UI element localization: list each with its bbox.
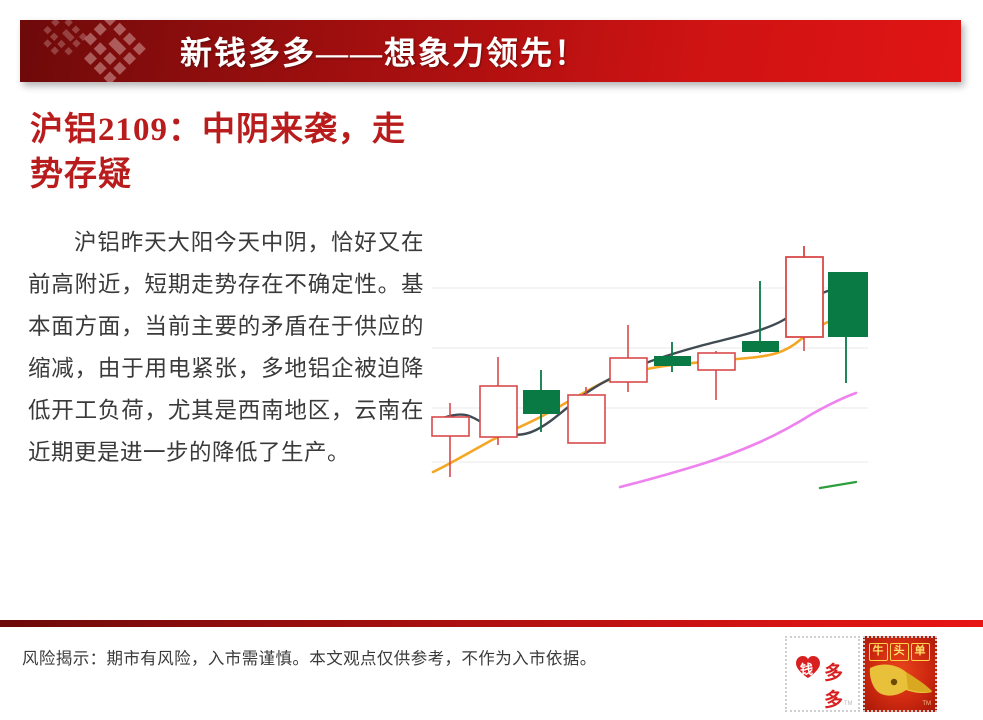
article-body: 沪铝昨天大阳今天中阴，恰好又在前高附近，短期走势存在不确定性。基本面方面，当前主… [28,222,424,474]
footer-divider [0,620,983,627]
niutoudan-chars: 牛 头 单 [869,643,930,661]
candle-5 [610,325,647,392]
qianduoduo-heart-char: 钱 [800,659,813,678]
page-title: 沪铝2109：中阴来袭，走势存疑 [30,108,430,197]
candle-10 [828,272,868,383]
header-banner: 新钱多多——想象力领先！ [20,20,961,82]
candle-8 [742,281,779,353]
niutoudan-logo: 牛 头 单 TM [863,636,938,712]
niutoudan-char-2: 单 [911,643,930,661]
candle-4 [568,387,605,443]
qianduoduo-tm-mark: TM [844,701,853,707]
slide-page: 新钱多多——想象力领先！ 沪铝2109：中阴来袭，走势存疑 沪铝昨天大阳今天中阴… [0,0,983,720]
qianduoduo-logo: 钱 多多 TM [785,636,860,712]
niutoudan-char-0: 牛 [869,643,888,661]
chart-canvas [430,218,870,510]
bull-head-icon [868,660,934,704]
candlestick-chart: ←20575 [430,218,870,510]
header-title: 新钱多多——想象力领先！ [180,28,588,74]
brand-logos: 钱 多多 TM 牛 头 单 TM [785,636,937,712]
niutoudan-tm-mark: TM [922,701,931,707]
candle-9 [786,246,823,351]
candle-7 [698,351,735,400]
indicator-dash [820,482,856,488]
niutoudan-char-1: 头 [890,643,909,661]
risk-disclaimer: 风险揭示：期市有风险，入市需谨慎。本文观点仅供参考，不作为入市依据。 [22,645,597,669]
candle-2 [480,357,517,445]
ma-extra-line [620,393,856,487]
chinese-knot-icon [28,20,168,82]
